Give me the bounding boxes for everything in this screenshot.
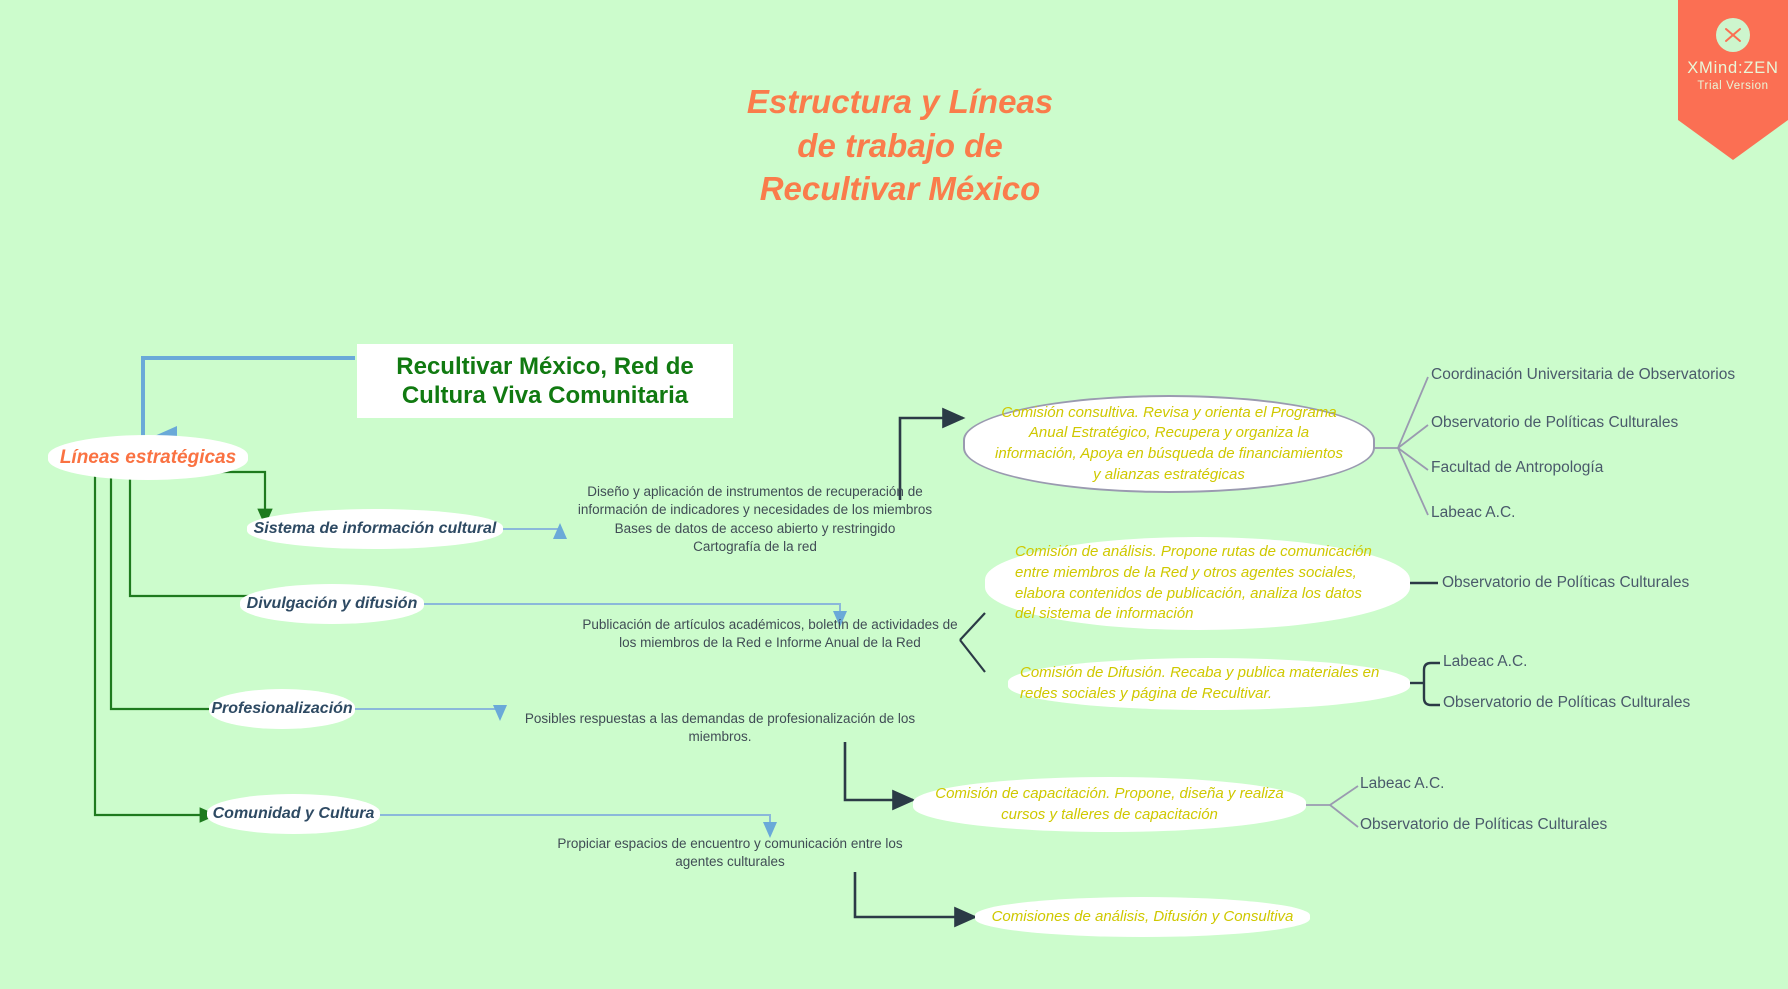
member-labeac-2[interactable]: Labeac A.C. <box>1443 653 1527 671</box>
member-observatorio-politicas-2[interactable]: Observatorio de Políticas Culturales <box>1442 574 1689 592</box>
comision-consultiva-text: Comisión consultiva. Revisa y orienta el… <box>995 403 1343 486</box>
member-labeac-1[interactable]: Labeac A.C. <box>1431 504 1515 522</box>
branch-label: Profesionalización <box>211 700 352 718</box>
member-facultad-antropologia[interactable]: Facultad de Antropología <box>1431 459 1603 477</box>
root-node-label: Recultivar México, Red de Cultura Viva C… <box>396 352 693 411</box>
node-comision-capacitacion[interactable]: Comisión de capacitación. Propone, diseñ… <box>913 777 1306 832</box>
node-profesionalizacion[interactable]: Profesionalización <box>209 689 355 729</box>
note-comunidad-cultura: Propiciar espacios de encuentro y comuni… <box>530 835 930 872</box>
node-comision-difusion[interactable]: Comisión de Difusión. Recaba y publica m… <box>1008 658 1410 710</box>
comision-capacitacion-text: Comisión de capacitación. Propone, diseñ… <box>935 784 1284 825</box>
xmind-trial-label: Trial Version <box>1678 80 1788 92</box>
member-labeac-3[interactable]: Labeac A.C. <box>1360 775 1444 793</box>
wire-root-to-estrategicas <box>143 358 355 442</box>
member-observatorio-politicas-4[interactable]: Observatorio de Políticas Culturales <box>1360 816 1607 834</box>
wire-capacitacion-members <box>1306 786 1358 827</box>
node-comisiones-resumen[interactable]: Comisiones de análisis, Difusión y Consu… <box>975 897 1310 937</box>
wire-consultiva-members <box>1371 377 1428 515</box>
node-comision-analisis[interactable]: Comisión de análisis. Propone rutas de c… <box>985 537 1410 630</box>
member-observatorio-politicas-3[interactable]: Observatorio de Políticas Culturales <box>1443 694 1690 712</box>
note-profesionalizacion: Posibles respuestas a las demandas de pr… <box>520 710 920 747</box>
note-divulgacion: Publicación de artículos académicos, bol… <box>570 616 970 653</box>
node-divulgacion-difusion[interactable]: Divulgación y difusión <box>240 584 424 624</box>
wire-difusion-members <box>1410 663 1440 705</box>
branch-label: Divulgación y difusión <box>247 595 418 613</box>
node-sistema-informacion-cultural[interactable]: Sistema de información cultural <box>247 509 503 549</box>
node-lineas-estrategicas[interactable]: Líneas estratégicas <box>48 435 248 480</box>
wire-branch-notes <box>355 525 840 836</box>
xmind-product-name: XMind:ZEN <box>1678 59 1788 77</box>
xmind-trial-watermark: XMind:ZEN Trial Version <box>1678 0 1788 160</box>
mindmap-canvas: Estructura y Líneas de trabajo de Recult… <box>0 0 1788 989</box>
root-node[interactable]: Recultivar México, Red de Cultura Viva C… <box>357 344 733 418</box>
comision-analisis-text: Comisión de análisis. Propone rutas de c… <box>1015 542 1372 625</box>
branch-label: Comunidad y Cultura <box>213 805 375 823</box>
comisiones-resumen-text: Comisiones de análisis, Difusión y Consu… <box>992 907 1294 928</box>
page-title: Estructura y Líneas de trabajo de Recult… <box>640 80 1160 211</box>
member-observatorio-politicas-1[interactable]: Observatorio de Políticas Culturales <box>1431 414 1678 432</box>
node-comunidad-cultura[interactable]: Comunidad y Cultura <box>207 794 380 834</box>
comision-difusion-text: Comisión de Difusión. Recaba y publica m… <box>1020 663 1379 704</box>
branch-label: Sistema de información cultural <box>254 520 497 538</box>
node-comision-consultiva[interactable]: Comisión consultiva. Revisa y orienta el… <box>963 395 1375 493</box>
member-coordinacion-universitaria[interactable]: Coordinación Universitaria de Observator… <box>1431 366 1735 384</box>
node-lineas-estrategicas-label: Líneas estratégicas <box>60 447 236 469</box>
xmind-x-icon <box>1716 18 1750 52</box>
note-sistema-informacion: Diseño y aplicación de instrumentos de r… <box>555 483 955 557</box>
